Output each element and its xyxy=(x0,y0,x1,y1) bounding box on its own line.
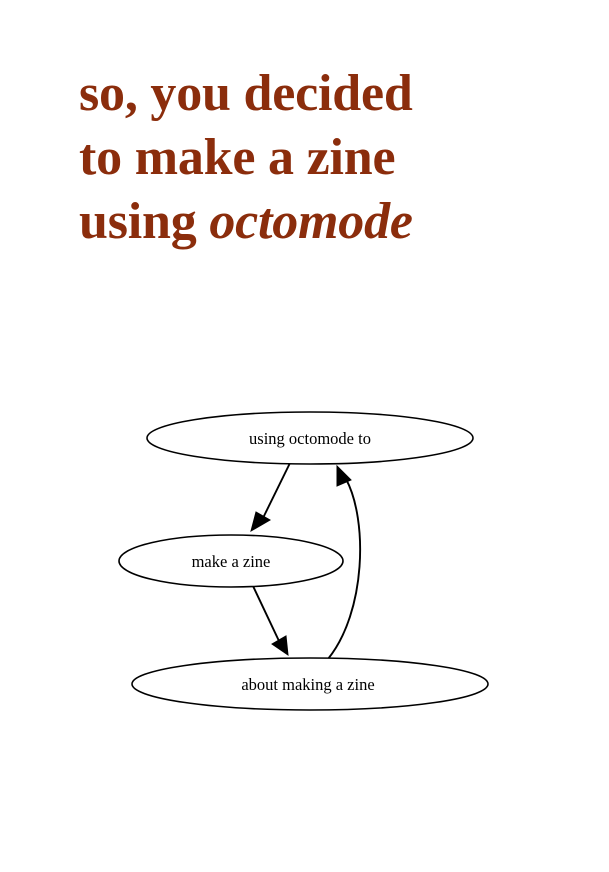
edge-using-octomode-to-to-make-a-zine xyxy=(251,463,290,531)
diagram-node-about-making-a-zine[interactable]: about making a zine xyxy=(132,658,488,710)
node-label-about-making-a-zine: about making a zine xyxy=(241,675,374,694)
diagram-node-make-a-zine[interactable]: make a zine xyxy=(119,535,343,587)
edge-make-a-zine-to-about-making-a-zine xyxy=(253,586,288,655)
zine-page: so, you decided to make a zine using oct… xyxy=(0,0,609,872)
node-label-using-octomode-to: using octomode to xyxy=(249,429,371,448)
diagram-node-using-octomode-to[interactable]: using octomode to xyxy=(147,412,473,464)
flow-diagram: using octomode to make a zine about maki… xyxy=(0,0,609,872)
node-label-make-a-zine: make a zine xyxy=(192,552,271,571)
